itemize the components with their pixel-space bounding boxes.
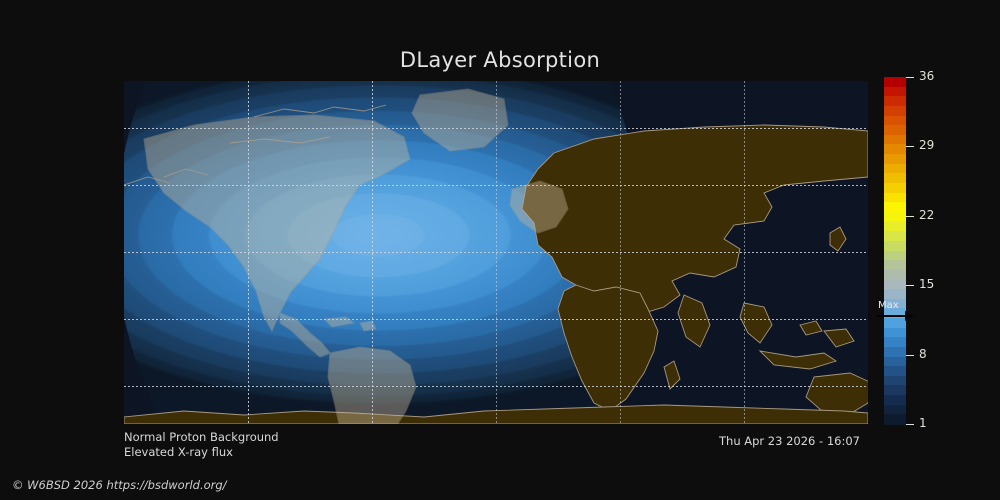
- colorbar-tick-mark: [906, 424, 914, 425]
- colorbar-tick-mark: [906, 216, 914, 217]
- page-title: DLayer Absorption: [0, 48, 1000, 72]
- copyright: © W6BSD 2026 https://bsdworld.org/: [12, 478, 227, 492]
- colorbar-axis-label: Affected Frequency (MHz): [918, 77, 1000, 424]
- status-note-proton: Normal Proton Background: [124, 430, 279, 444]
- colorbar-tick-mark: [906, 355, 914, 356]
- max-marker-arrow-head: [905, 311, 914, 321]
- timestamp: Thu Apr 23 2026 - 16:07: [719, 434, 860, 448]
- colorbar-tick-mark: [906, 146, 914, 147]
- colorbar-band: [884, 414, 906, 424]
- colorbar-tick-mark: [906, 77, 914, 78]
- plot-root: DLayer Absorption: [0, 0, 1000, 500]
- max-marker-label: Max: [878, 300, 899, 311]
- colorbar-tick-mark: [906, 285, 914, 286]
- colorbar-max-marker: Max: [875, 300, 917, 326]
- map-plot-area[interactable]: [124, 81, 868, 424]
- colorbar[interactable]: [884, 77, 906, 424]
- world-map-svg: [124, 81, 868, 424]
- max-marker-arrow-shaft: [876, 315, 908, 317]
- status-note-xray: Elevated X-ray flux: [124, 445, 233, 459]
